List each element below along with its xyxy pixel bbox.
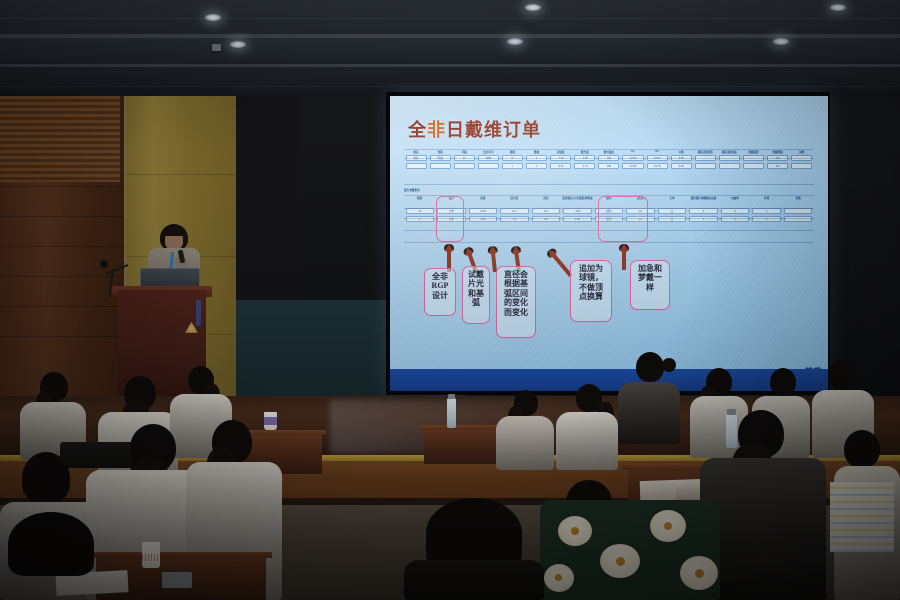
slide-table-cell: -1.75 bbox=[574, 163, 595, 169]
table-rule bbox=[404, 242, 814, 243]
slide-title-part-1: 全 bbox=[408, 120, 427, 140]
ceiling-seam bbox=[0, 18, 900, 19]
slide-table-cell: 43.75 bbox=[647, 163, 668, 169]
slide-section-label: 镜片参数要求 bbox=[404, 188, 420, 192]
ceiling-downlight-icon bbox=[205, 14, 221, 21]
slide-table-bottom-header: 外径 bbox=[751, 195, 783, 207]
phone bbox=[162, 572, 192, 588]
slide-table-cell: 无 bbox=[658, 216, 687, 222]
slide-callout-5: 加急和梦戴一样 bbox=[630, 260, 670, 310]
ceiling-downlight-icon bbox=[830, 4, 846, 11]
slide-table-cell: 1 bbox=[689, 216, 718, 222]
slide-table-bottom-header: 眼别 bbox=[404, 195, 436, 207]
slide-table-cell bbox=[784, 208, 813, 214]
slide-table-cell: L bbox=[502, 163, 523, 169]
ceiling-sensor-icon bbox=[212, 44, 221, 51]
slide-table-cell bbox=[478, 163, 499, 169]
slide-table-bottom-header: 订单 bbox=[656, 195, 688, 207]
audience-member bbox=[496, 390, 554, 470]
slide-table-cell bbox=[695, 163, 716, 169]
slide-table-cell bbox=[454, 163, 475, 169]
slide-table-cell: R bbox=[406, 208, 435, 214]
slide-table-cell: 1 bbox=[721, 208, 750, 214]
slide-table-cell: 180 bbox=[598, 163, 619, 169]
slide-table-cell: -6.00 bbox=[469, 216, 498, 222]
slide-table-cell: 1 bbox=[721, 216, 750, 222]
slide-table-cell: 9.0 bbox=[532, 216, 561, 222]
slide-table-bottom-header: 最终确认片(含基弧)调整量 bbox=[562, 195, 594, 207]
slide-table-cell: 0.0 bbox=[767, 163, 788, 169]
table-rule bbox=[404, 158, 814, 159]
slide-table-bottom-header: 直径 bbox=[530, 195, 562, 207]
audience-member bbox=[404, 498, 544, 600]
slide-table-cell bbox=[719, 163, 740, 169]
slide-table-cell: 8.1 bbox=[500, 208, 529, 214]
projection-screen: 全非日戴维订单 姓名性别年龄出生年月眼别数量旧镜度散光度散光轴位K1K2E值瞳孔… bbox=[390, 96, 828, 391]
slide-table-bottom-header: 基弧 bbox=[467, 195, 499, 207]
slide-table-cell: -6.00 bbox=[550, 163, 571, 169]
ceiling-downlight-icon bbox=[525, 4, 541, 11]
slide-highlight-oval-design bbox=[436, 196, 464, 242]
slide-table-cell: 1 bbox=[752, 216, 781, 222]
highlighted-notebook bbox=[830, 482, 894, 552]
presenter-hair-front bbox=[163, 226, 185, 236]
slide-table-bottom-header: 屈光度 bbox=[499, 195, 531, 207]
water-bottle bbox=[447, 398, 456, 428]
slide-callout-3: 直径会根据基弧区间的变化而变化 bbox=[496, 266, 536, 338]
slide-table-bottom-header: 内曲率 bbox=[719, 195, 751, 207]
slide-table-cell: 1 bbox=[526, 163, 547, 169]
slide-callout-4: 追加为球镜，不做顶点换算 bbox=[570, 260, 612, 322]
slide-table-cell: 7.5 bbox=[500, 216, 529, 222]
slide-table-cell bbox=[791, 163, 812, 169]
slide-table-cell: -1.00 bbox=[563, 208, 592, 214]
slide-callout-2: 试戴片光和基弧 bbox=[462, 266, 490, 324]
slide-table-cell: 0.46 bbox=[671, 163, 692, 169]
slide-table-cell: 1 bbox=[689, 208, 718, 214]
ceiling-downlight-icon bbox=[773, 38, 789, 45]
slide-table-cell: L bbox=[406, 216, 435, 222]
slide-highlight-oval-order bbox=[598, 196, 648, 242]
slide-title-part-2: 非 bbox=[427, 120, 446, 140]
slide-table-cell: -6.00 bbox=[469, 208, 498, 214]
slide-table-cell: 1 bbox=[752, 208, 781, 214]
ceiling-band-1 bbox=[0, 0, 900, 34]
slide-table-top-row: L1-6.00-1.7518042.2543.750.460.0 bbox=[404, 162, 814, 170]
table-rule bbox=[404, 184, 814, 185]
slide-table-cell bbox=[784, 216, 813, 222]
ceiling-seam bbox=[0, 86, 900, 87]
slide-table-bottom-header: 最终镜片参数确认信息 bbox=[688, 195, 720, 207]
wall-louver-vent bbox=[0, 96, 120, 182]
slide-table-cell: 9.4 bbox=[532, 208, 561, 214]
slide-table-top: 姓名性别年龄出生年月眼别数量旧镜度散光度散光轴位K1K2E值瞳孔直径(明)瞳孔直… bbox=[404, 149, 814, 170]
ceiling-downlight-icon bbox=[230, 41, 246, 48]
table-rule bbox=[404, 149, 814, 150]
ceiling bbox=[0, 0, 900, 100]
slide-callout-1: 全非RGP设计 bbox=[424, 268, 456, 316]
slide-table-cell: 无 bbox=[658, 208, 687, 214]
slide-table-bottom-header: 其他 bbox=[782, 195, 814, 207]
slide-table-cell bbox=[406, 163, 427, 169]
slide-table-cell bbox=[743, 163, 764, 169]
ceiling-band-3 bbox=[0, 38, 900, 64]
audience-member bbox=[0, 512, 120, 600]
podium-stripe bbox=[196, 300, 201, 326]
slide-title: 全非日戴维订单 bbox=[408, 116, 541, 142]
microphone-head-icon bbox=[100, 260, 108, 268]
slide-table-cell: 1.00 bbox=[563, 216, 592, 222]
bottle-cap bbox=[448, 394, 455, 399]
audience-member bbox=[556, 384, 618, 470]
ceiling-downlight-icon bbox=[507, 38, 523, 45]
slide-table-cell bbox=[430, 163, 451, 169]
audience-member bbox=[618, 352, 680, 444]
arrow-icon-6 bbox=[619, 244, 629, 270]
paper-cup bbox=[142, 542, 160, 568]
slide-table-cell: 42.25 bbox=[622, 163, 643, 169]
slide-title-part-3: 日戴维订单 bbox=[446, 120, 541, 140]
lecture-hall-photo: 全非日戴维订单 姓名性别年龄出生年月眼别数量旧镜度散光度散光轴位K1K2E值瞳孔… bbox=[0, 0, 900, 600]
floral-print-shirt bbox=[540, 500, 720, 600]
